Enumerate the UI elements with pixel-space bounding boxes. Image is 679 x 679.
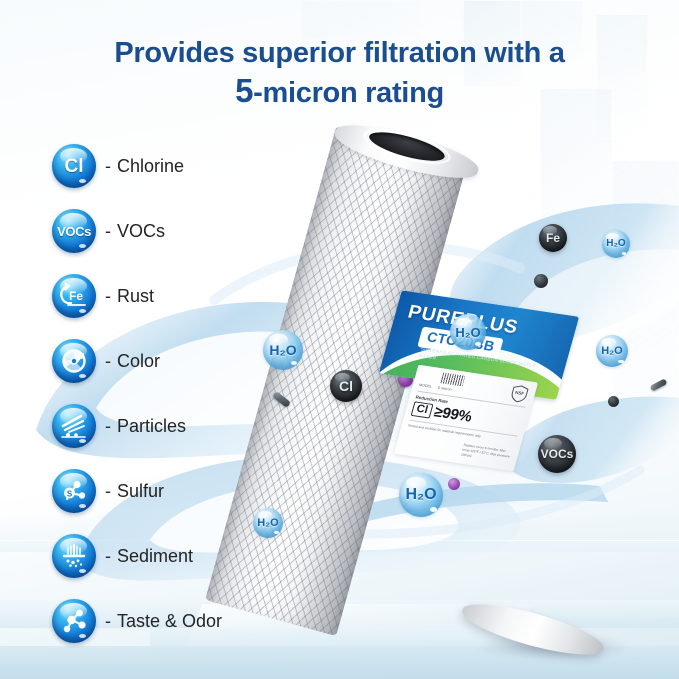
feature-item-chlorine: Cl - Chlorine [52,144,222,188]
chlorine-icon: Cl [52,144,96,188]
feature-label-sediment: Sediment [117,546,193,567]
spec-micron-text: 5 micron [437,386,452,393]
h2o-bubble-big-bottom: H₂O [399,473,443,517]
feature-item-vocs: VOCs - VOCs [52,209,222,253]
feature-item-sediment: - Sediment [52,534,222,578]
feature-label-taste-odor: Taste & Odor [117,611,222,632]
headline-micron-rest: -micron rating [253,77,444,109]
fe-sphere-topright: Fe [539,224,567,252]
sediment-icon [52,534,96,578]
feature-label-color: Color [117,351,160,372]
h2o-bubble-left-label: H₂O [269,343,296,357]
headline-line-1: Provides superior filtration with a [0,36,679,70]
vocs-icon: VOCs [52,209,96,253]
taste-odor-icon [52,599,96,643]
h2o-bubble-midright-label: H₂O [601,346,622,357]
svg-text:Fe: Fe [69,289,83,303]
feature-label-particles: Particles [117,416,186,437]
cert-badge-text: NSF [515,390,525,396]
spec-micro-left: MODEL [418,383,432,390]
spec-contaminant-symbol: Cl [411,402,434,419]
feature-item-sulfur: S - Sulfur [52,469,222,513]
rust-icon-art: Fe [57,281,91,311]
contaminant-speck [448,478,460,490]
feature-item-color: - Color [52,339,222,383]
h2o-bubble-label-label: H₂O [455,326,480,339]
feature-item-rust: Fe - Rust [52,274,222,318]
h2o-bubble-big-bottom-label: H₂O [405,487,436,503]
cl-sphere-center-label: Cl [339,379,353,393]
feature-dash: - [105,416,111,437]
product-spec-label: NSF MODEL 5 micron Reduction Rate Cl ≥99… [394,365,538,472]
feature-label-chlorine: Chlorine [117,156,184,177]
h2o-bubble-midright: H₂O [596,335,628,367]
sulfur-icon-art: S [59,477,89,505]
bg-glass-block [300,0,420,40]
taste-odor-icon-art [59,607,89,635]
headline: Provides superior filtration with a 5-mi… [0,36,679,111]
color-icon [52,339,96,383]
vocs-sphere-right-label: VOCs [541,448,574,460]
headline-line-2: 5-micron rating [0,72,679,111]
particles-icon-art [59,412,89,440]
feature-dash: - [105,221,111,242]
feature-label-sulfur: Sulfur [117,481,164,502]
vocs-icon-glyph: VOCs [57,225,91,238]
feature-dash: - [105,611,111,632]
svg-text:S: S [67,490,73,499]
contaminant-speck [534,274,548,288]
color-icon-art [60,347,88,375]
rust-icon: Fe [52,274,96,318]
certification-badge: NSF [508,384,530,409]
contaminant-speck [608,396,619,407]
feature-dash: - [105,546,111,567]
particles-icon [52,404,96,448]
headline-micron-number: 5 [235,72,253,109]
feature-label-vocs: VOCs [117,221,165,242]
h2o-bubble-topright-label: H₂O [606,239,625,249]
h2o-bubble-left: H₂O [263,330,303,370]
contaminant-feature-list: Cl - Chlorine VOCs - VOCs Fe - Rust [52,144,222,643]
h2o-bubble-topright: H₂O [602,230,630,258]
chlorine-icon-glyph: Cl [65,157,84,176]
h2o-bubble-bottomleft: H₂O [253,508,283,538]
feature-dash: - [105,286,111,307]
h2o-bubble-bottomleft-label: H₂O [257,518,278,529]
vocs-sphere-right: VOCs [538,435,576,473]
feature-dash: - [105,156,111,177]
feature-dash: - [105,351,111,372]
fe-sphere-topright-label: Fe [546,232,560,244]
cl-sphere-center: Cl [330,370,362,402]
feature-item-particles: - Particles [52,404,222,448]
feature-label-rust: Rust [117,286,154,307]
sediment-icon-art [59,542,89,570]
bg-glass-block [612,160,679,460]
feature-dash: - [105,481,111,502]
sulfur-icon: S [52,469,96,513]
feature-item-taste-odor: - Taste & Odor [52,599,222,643]
h2o-bubble-label: H₂O [450,314,486,350]
spec-side-note: Replace every 6 months. Max temp 125°F /… [460,442,514,464]
barcode [440,372,465,386]
